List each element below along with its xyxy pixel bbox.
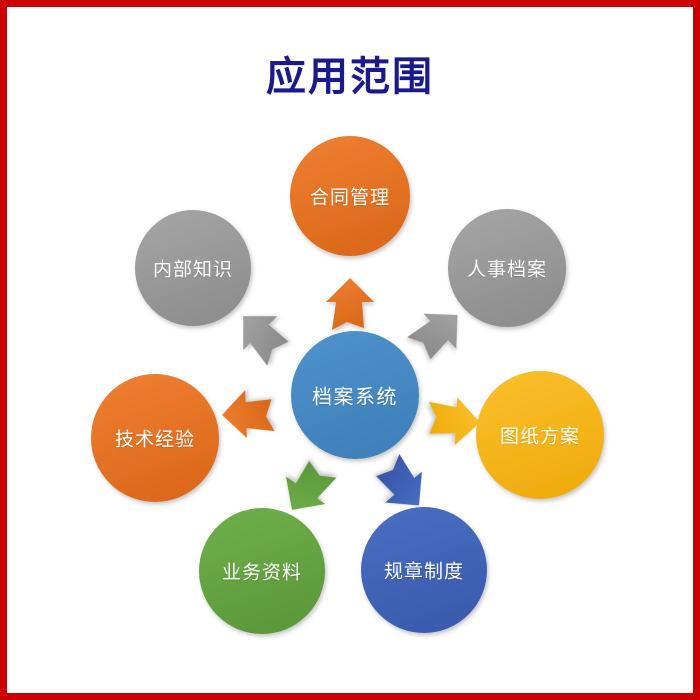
- circle-group: [91, 136, 604, 634]
- arrow-hr-icon: [403, 297, 474, 368]
- node-circle-drawing[interactable]: [476, 371, 604, 499]
- node-circle-business[interactable]: [199, 508, 325, 634]
- node-circle-contract[interactable]: [290, 136, 410, 256]
- arrow-technical-icon: [221, 389, 275, 439]
- diagram-canvas: 应用范围 合同管理人事档案图纸方案规章制度业务资料技术经验内部知识档案系统: [0, 0, 700, 700]
- node-circle-rules[interactable]: [361, 507, 487, 633]
- node-circle-technical[interactable]: [91, 374, 219, 502]
- node-circle-knowledge[interactable]: [135, 210, 251, 326]
- node-circle-center[interactable]: [291, 331, 419, 459]
- arrow-contract-icon: [326, 278, 374, 330]
- node-circle-hr[interactable]: [448, 209, 566, 327]
- diagram-graphics: [0, 0, 700, 700]
- arrow-knowledge-icon: [226, 299, 297, 370]
- arrow-drawing-icon: [427, 396, 481, 447]
- page-title: 应用范围: [0, 44, 700, 102]
